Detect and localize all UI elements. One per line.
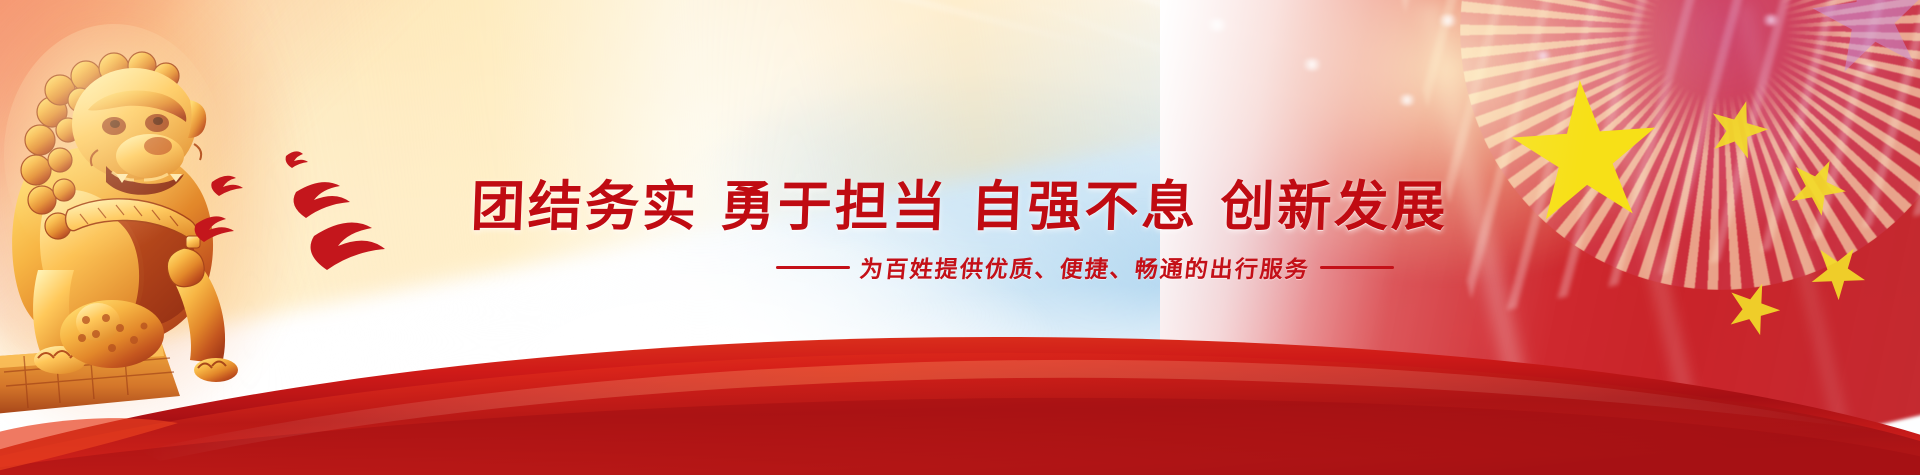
bird-icon-5 xyxy=(311,223,385,270)
banner-root: 团结务实 勇于担当 自强不息 创新发展 为百姓提供优质、便捷、畅通的出行服务 xyxy=(0,0,1920,475)
edge-dot-1 xyxy=(1204,18,1230,32)
edge-dot-4 xyxy=(1436,14,1460,27)
flying-birds-group xyxy=(190,140,410,270)
bird-icon-4 xyxy=(195,216,234,242)
edge-dot-2 xyxy=(1300,58,1324,71)
edge-dot-3 xyxy=(1396,94,1418,106)
bird-icon-1 xyxy=(286,151,308,168)
bird-icon-3 xyxy=(294,182,350,218)
bird-icon-2 xyxy=(211,176,243,196)
bottom-red-wave xyxy=(0,265,1920,475)
